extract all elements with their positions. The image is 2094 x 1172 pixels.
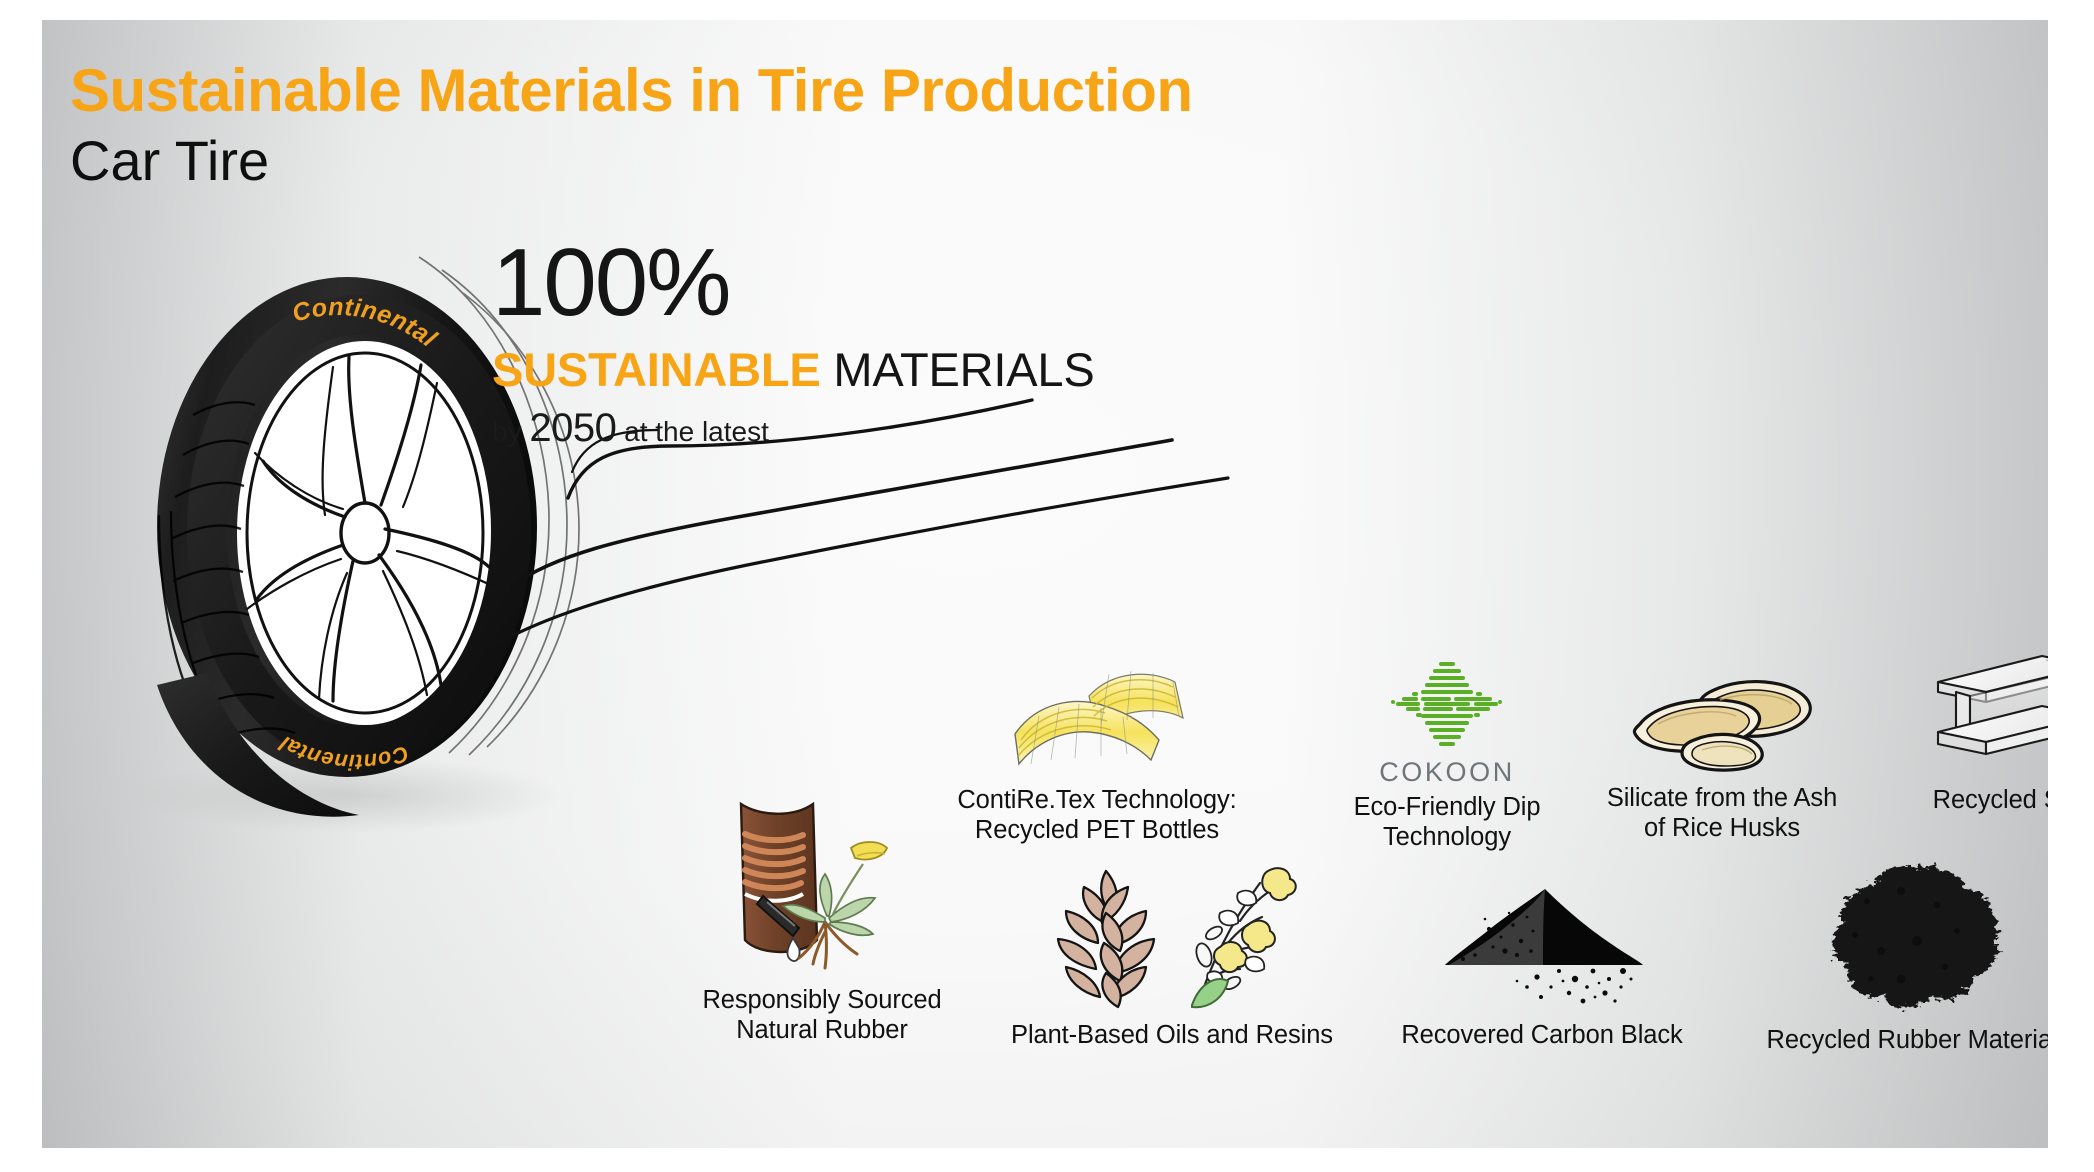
claim-rest: MATERIALS	[821, 343, 1095, 396]
cokoon-wordmark: COKOON	[1297, 757, 1597, 788]
material-label-recycled-rubber: Recycled Rubber Material	[1732, 1025, 2048, 1055]
material-label-recovered-carbon-black: Recovered Carbon Black	[1372, 1020, 1712, 1050]
cokoon-diamond-icon	[1388, 656, 1506, 752]
material-card-plant-oils-resins[interactable]: Plant-Based Oils and Resins	[987, 855, 1357, 1050]
claim-year: 2050	[529, 406, 616, 450]
material-label-recycled-steel: Recycled Steel	[1882, 785, 2048, 815]
claim-suffix: at the latest	[616, 416, 769, 447]
pinecone-rapeseed-icon	[1032, 855, 1312, 1015]
page-title: Sustainable Materials in Tire Production	[70, 56, 1193, 125]
rubber-crumb-blob-icon	[1797, 855, 2027, 1020]
infographic-stage: Sustainable Materials in Tire Production…	[0, 0, 2094, 1172]
material-card-recycled-rubber[interactable]: Recycled Rubber Material	[1732, 855, 2048, 1055]
material-label-rice-husk-silicate: Silicate from the Ash of Rice Husks	[1562, 783, 1882, 843]
claim-year-line: by 2050 at the latest	[492, 406, 1095, 451]
rubber-tree-tap-icon	[707, 790, 937, 980]
carbon-black-pile-icon	[1417, 875, 1667, 1015]
material-card-rice-husk-silicate[interactable]: Silicate from the Ash of Rice Husks	[1562, 668, 1882, 843]
claim-by-label: by	[492, 416, 529, 447]
fabric-ribbon-icon	[997, 660, 1197, 780]
material-card-recycled-steel[interactable]: Recycled Steel	[1882, 650, 2048, 815]
material-label-conti-re-tex: ContiRe.Tex Technology: Recycled PET Bot…	[937, 785, 1257, 845]
claim-percent: 100%	[492, 235, 1095, 331]
claim-block: 100% SUSTAINABLE MATERIALS by 2050 at th…	[492, 235, 1095, 451]
steel-ibeam-icon	[1922, 650, 2048, 780]
material-label-plant-oils-resins: Plant-Based Oils and Resins	[987, 1020, 1357, 1050]
material-card-recovered-carbon-black[interactable]: Recovered Carbon Black	[1372, 875, 1712, 1050]
material-card-conti-re-tex[interactable]: ContiRe.Tex Technology: Recycled PET Bot…	[937, 660, 1257, 845]
rice-husks-icon	[1622, 668, 1822, 778]
content-panel: Sustainable Materials in Tire Production…	[42, 20, 2048, 1148]
material-label-natural-rubber: Responsibly Sourced Natural Rubber	[662, 985, 982, 1045]
material-card-cokoon[interactable]: COKOON Eco-Friendly Dip Technology	[1297, 656, 1597, 852]
material-label-cokoon: Eco-Friendly Dip Technology	[1297, 792, 1597, 852]
claim-materials-line: SUSTAINABLE MATERIALS	[492, 345, 1095, 394]
page-subtitle: Car Tire	[70, 128, 269, 193]
claim-highlight: SUSTAINABLE	[492, 343, 821, 396]
material-card-natural-rubber[interactable]: Responsibly Sourced Natural Rubber	[662, 790, 982, 1045]
